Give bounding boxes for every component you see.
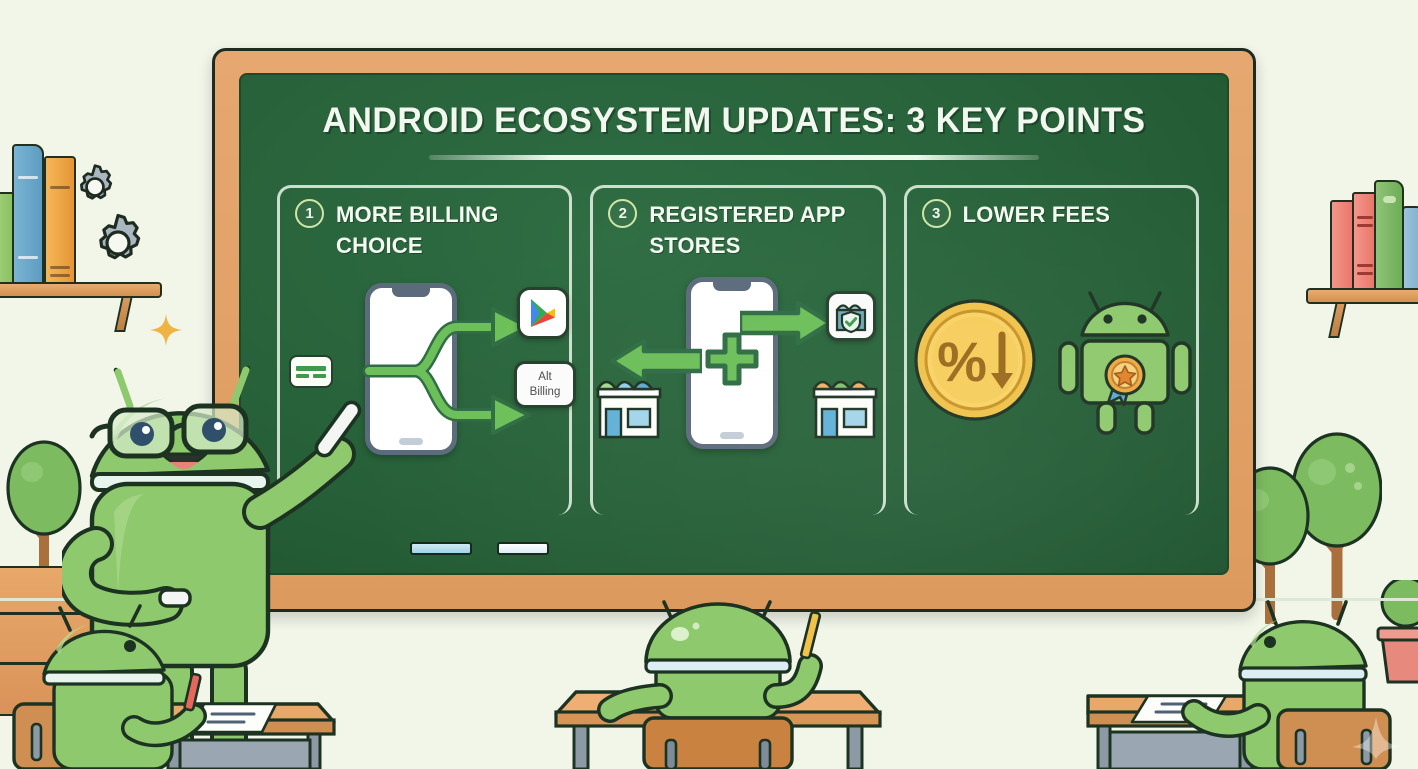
phone-notch	[392, 288, 430, 297]
panel-number-badge: 1	[295, 199, 324, 228]
book-band	[18, 176, 38, 179]
sparkle-icon	[148, 312, 184, 353]
chalk-white[interactable]	[497, 542, 549, 555]
panel-title: REGISTERED APP STORES	[649, 199, 869, 261]
student-android-center	[548, 600, 888, 769]
gear-icon	[68, 160, 122, 214]
panel-lower-fees: 3 LOWER FEES %	[904, 185, 1199, 515]
panel-title: MORE BILLING CHOICE	[336, 199, 556, 261]
illustration-canvas: ANDROID ECOSYSTEM UPDATES: 3 KEY POINTS …	[0, 0, 1418, 769]
book-band	[1357, 224, 1372, 227]
page-title: ANDROID ECOSYSTEM UPDATES: 3 KEY POINTS	[256, 101, 1212, 141]
book-band	[1357, 264, 1372, 267]
watermark-sparkle-icon	[1350, 715, 1402, 759]
svg-text:%: %	[937, 330, 987, 393]
book-band	[50, 274, 70, 277]
android-mascot-award	[1056, 287, 1196, 442]
panel-title: LOWER FEES	[963, 199, 1110, 230]
book-band	[18, 256, 38, 259]
shelf-plank	[0, 282, 162, 298]
title-underline	[429, 155, 1039, 160]
book-blue	[12, 144, 44, 292]
panel-artwork: %	[904, 277, 1199, 467]
arrow-right-icon	[740, 299, 836, 347]
book-band	[1357, 272, 1372, 275]
chalk-blue[interactable]	[410, 542, 472, 555]
phone-home-button	[720, 432, 744, 439]
book-blue	[1402, 206, 1418, 294]
book-band	[50, 266, 70, 269]
coin-percent-down-icon: %	[912, 297, 1038, 428]
shelf-brace	[1328, 302, 1347, 338]
right-bookshelf	[1316, 178, 1418, 308]
key-points-panels: 1 MORE BILLING CHOICE	[277, 185, 1199, 515]
chalk-ledge	[265, 539, 1203, 557]
panel-artwork	[590, 277, 885, 467]
book-band	[50, 186, 70, 189]
panel-header: 1 MORE BILLING CHOICE	[277, 185, 572, 261]
alt-billing-label: Alt Billing	[530, 370, 561, 399]
book-band	[1383, 196, 1396, 203]
panel-registered-app-stores: 2 REGISTERED APP STORES	[590, 185, 885, 515]
shelf-brace	[114, 296, 133, 332]
left-bookshelf	[0, 118, 172, 298]
panel-header: 3 LOWER FEES	[904, 185, 1199, 230]
book-band	[1357, 216, 1372, 219]
verified-store-shield-icon	[826, 291, 876, 341]
panel-number-badge: 3	[922, 199, 951, 228]
storefront-orange	[808, 369, 882, 446]
gear-icon	[85, 210, 151, 276]
phone-notch	[713, 282, 751, 291]
storefront-blue	[592, 369, 666, 446]
panel-header: 2 REGISTERED APP STORES	[590, 185, 885, 261]
alt-billing-card: Alt Billing	[514, 361, 576, 408]
shelf-plank	[1306, 288, 1418, 304]
panel-number-badge: 2	[608, 199, 637, 228]
chalkboard-surface: ANDROID ECOSYSTEM UPDATES: 3 KEY POINTS …	[239, 73, 1229, 575]
google-play-icon	[517, 287, 569, 339]
student-android-left	[8, 600, 338, 769]
book-green	[1374, 180, 1404, 294]
